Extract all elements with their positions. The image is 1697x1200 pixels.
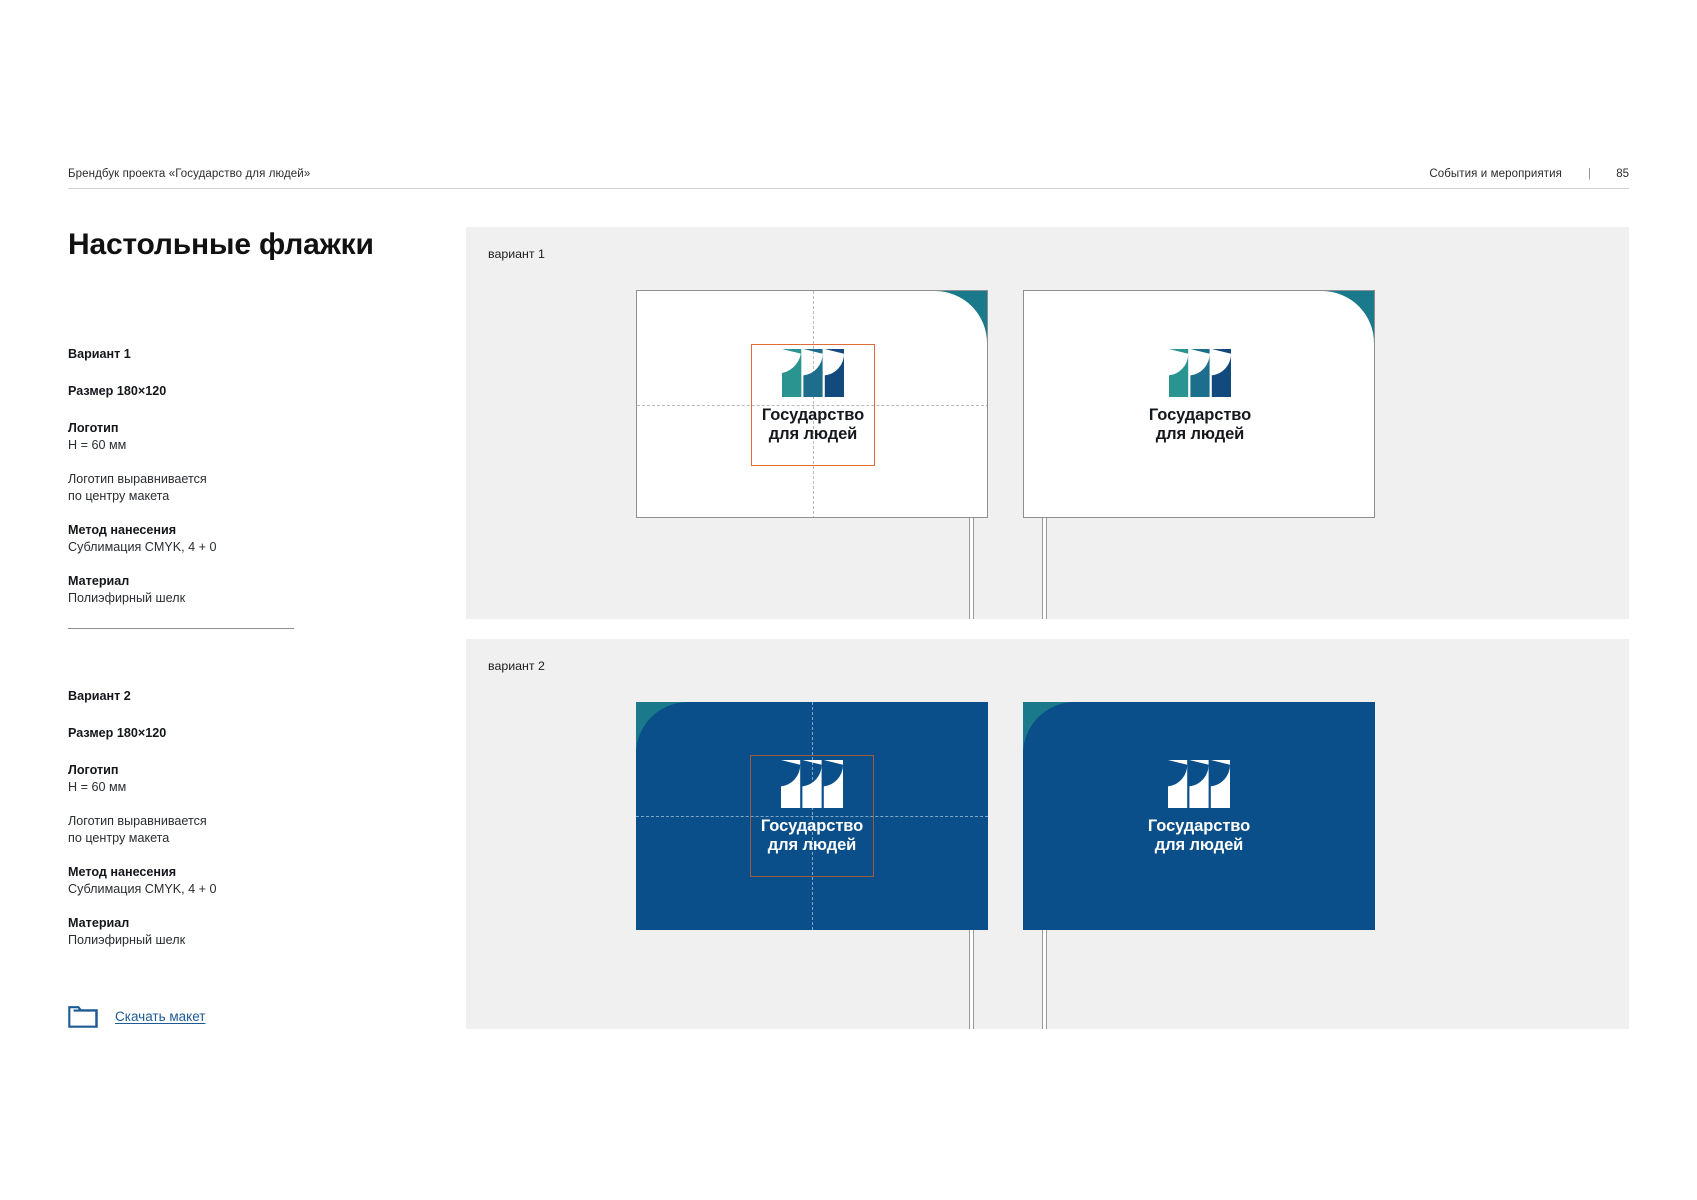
spec-method-value: Сублимация CMYK, 4 + 0 xyxy=(68,539,318,556)
spec-logo-value: H = 60 мм xyxy=(68,437,318,454)
logo-wordmark-line-1: Государство xyxy=(1148,817,1250,836)
page-title: Настольные флажки xyxy=(68,228,374,262)
header-section-and-page: События и мероприятия | 85 xyxy=(1429,168,1629,180)
spec-block-variant-2: Вариант 2 Размер 180×120 Логотип H = 60 … xyxy=(68,688,318,949)
brandbook-title: Брендбук проекта «Государство для людей» xyxy=(68,168,310,180)
logo-mark-icon xyxy=(1168,760,1230,808)
flag-pole xyxy=(969,930,974,1029)
flag-mockup-clean: Государство для людей xyxy=(1023,290,1375,619)
logo-mark-icon xyxy=(781,760,843,808)
spec-alignment-line-1: Логотип выравнивается xyxy=(68,813,318,830)
spec-logo-heading: Логотип xyxy=(68,420,318,437)
folder-icon xyxy=(68,1003,99,1029)
download-mockup-label: Скачать макет xyxy=(115,1009,205,1024)
spec-material-value: Полиэфирный шелк xyxy=(68,932,318,949)
flag-mockup-with-guides: Государство для людей xyxy=(636,702,988,1029)
logo-wordmark-line-2: для людей xyxy=(1148,836,1250,855)
logo-wordmark: Государство для людей xyxy=(762,406,864,445)
flag-mockup-with-guides: Государство для людей xyxy=(636,290,988,619)
spec-block-variant-1: Вариант 1 Размер 180×120 Логотип H = 60 … xyxy=(68,346,318,607)
panel-label: вариант 1 xyxy=(488,247,545,261)
logo-wordmark-line-1: Государство xyxy=(762,406,864,425)
spec-material-heading: Материал xyxy=(68,573,318,590)
logo-lockup: Государство для людей xyxy=(751,349,875,445)
flag-pole xyxy=(1042,930,1047,1029)
logo-wordmark: Государство для людей xyxy=(761,817,863,856)
spec-logo-value: H = 60 мм xyxy=(68,779,318,796)
logo-wordmark-line-2: для людей xyxy=(762,425,864,444)
corner-accent-icon xyxy=(1322,291,1374,343)
spec-method-value: Сублимация CMYK, 4 + 0 xyxy=(68,881,318,898)
flag-pole xyxy=(969,518,974,619)
preview-panel-variant-1: вариант 1 xyxy=(466,227,1629,619)
corner-accent-icon xyxy=(636,702,688,754)
running-header: Брендбук проекта «Государство для людей»… xyxy=(68,168,1629,190)
logo-lockup: Государство для людей xyxy=(1138,349,1262,445)
flag-face: Государство для людей xyxy=(636,290,988,518)
spec-logo-heading: Логотип xyxy=(68,762,318,779)
logo-wordmark-line-2: для людей xyxy=(761,836,863,855)
panel-label: вариант 2 xyxy=(488,659,545,673)
logo-wordmark-line-1: Государство xyxy=(761,817,863,836)
download-mockup-link[interactable]: Скачать макет xyxy=(68,1003,205,1029)
flag-face: Государство для людей xyxy=(1023,290,1375,518)
flag-mockup-clean: Государство для людей xyxy=(1023,702,1375,1029)
spec-material-heading: Материал xyxy=(68,915,318,932)
section-name: События и мероприятия xyxy=(1429,168,1562,180)
flag-pole xyxy=(1042,518,1047,619)
logo-wordmark: Государство для людей xyxy=(1149,406,1251,445)
spec-alignment-line-2: по центру макета xyxy=(68,488,318,505)
spec-method-heading: Метод нанесения xyxy=(68,522,318,539)
brandbook-page: Брендбук проекта «Государство для людей»… xyxy=(0,0,1697,1200)
corner-accent-icon xyxy=(935,291,987,343)
spec-alignment-line-2: по центру макета xyxy=(68,830,318,847)
page-number: 85 xyxy=(1613,168,1629,180)
spec-variant-label: Вариант 2 xyxy=(68,688,318,705)
logo-mark-icon xyxy=(782,349,844,397)
spec-method-heading: Метод нанесения xyxy=(68,864,318,881)
spec-alignment-line-1: Логотип выравнивается xyxy=(68,471,318,488)
spec-material-value: Полиэфирный шелк xyxy=(68,590,318,607)
flag-face: Государство для людей xyxy=(636,702,988,930)
spec-divider xyxy=(68,628,294,629)
logo-wordmark-line-2: для людей xyxy=(1149,425,1251,444)
logo-lockup: Государство для людей xyxy=(1137,760,1261,856)
logo-lockup: Государство для людей xyxy=(750,760,874,856)
corner-accent-icon xyxy=(1023,702,1075,754)
preview-panel-variant-2: вариант 2 xyxy=(466,639,1629,1029)
logo-wordmark-line-1: Государство xyxy=(1149,406,1251,425)
header-separator: | xyxy=(1588,168,1591,180)
logo-wordmark: Государство для людей xyxy=(1148,817,1250,856)
logo-mark-icon xyxy=(1169,349,1231,397)
header-rule xyxy=(68,188,1629,189)
spec-variant-label: Вариант 1 xyxy=(68,346,318,363)
flag-face: Государство для людей xyxy=(1023,702,1375,930)
spec-size-label: Размер 180×120 xyxy=(68,725,318,742)
spec-size-label: Размер 180×120 xyxy=(68,383,318,400)
